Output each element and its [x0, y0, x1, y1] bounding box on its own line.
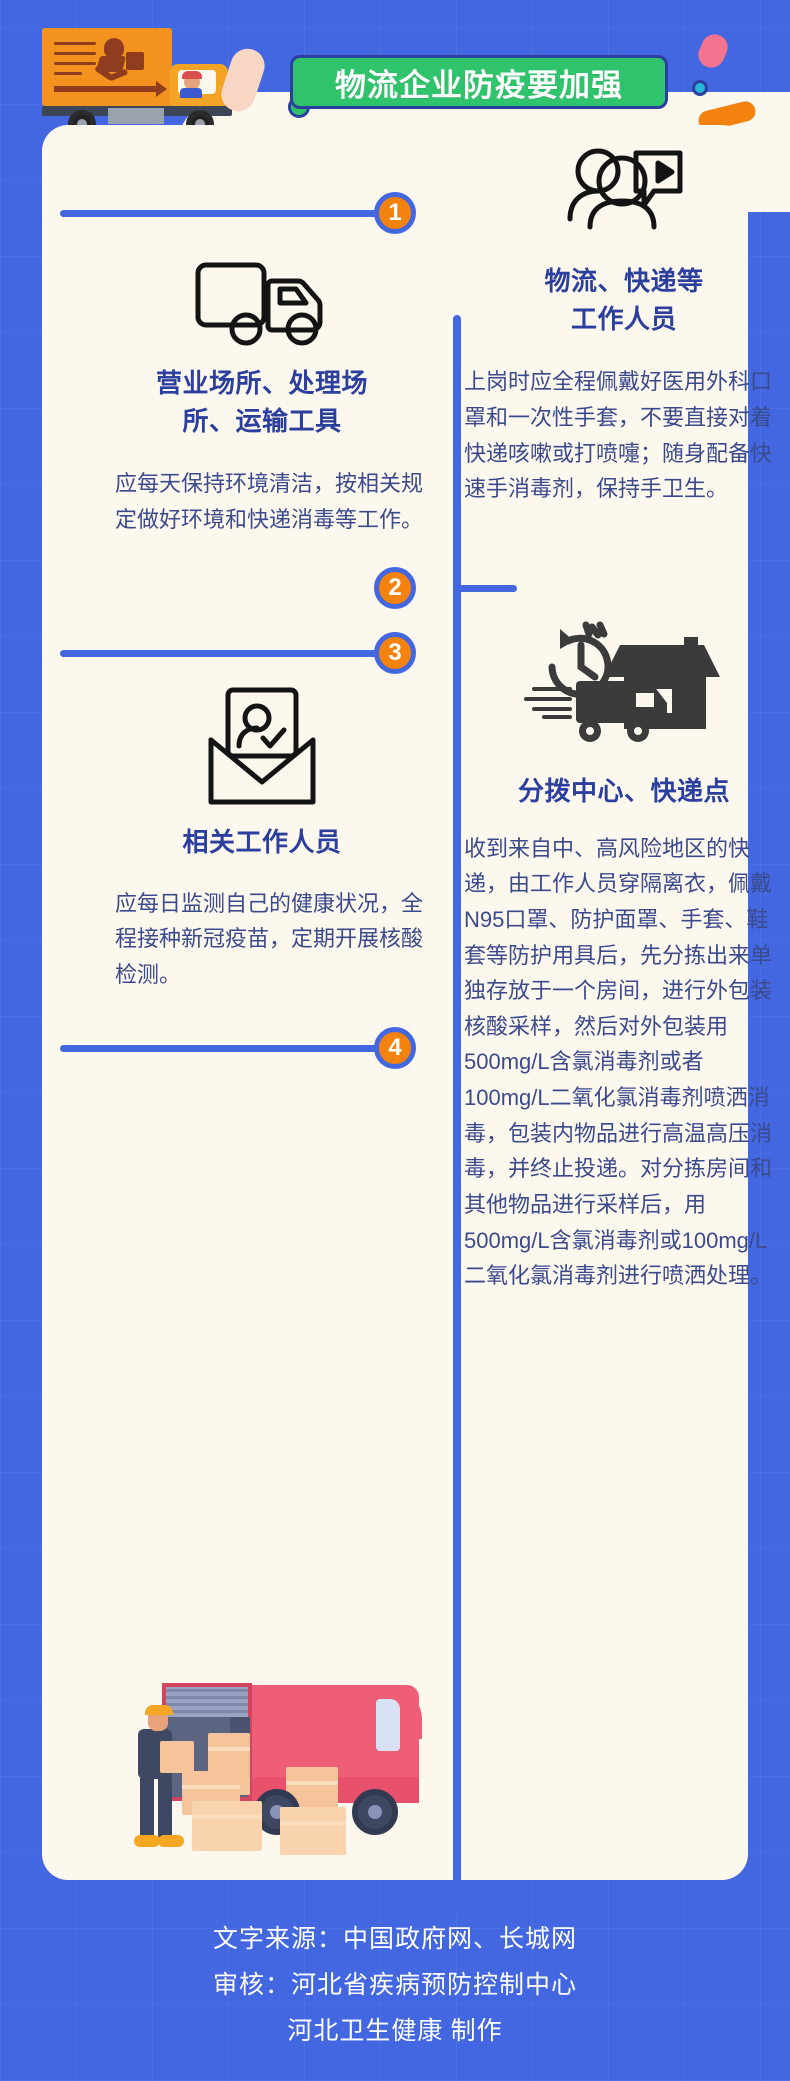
poster-footer: 文字来源：中国政府网、长城网 审核：河北省疾病预防控制中心 河北卫生健康 制作 — [0, 1885, 790, 2081]
footer-producer: 河北卫生健康 制作 — [287, 2011, 502, 2047]
cyan-dot-decor — [692, 80, 708, 96]
timeline-axis — [453, 315, 461, 1915]
section-4-title: 相关工作人员 — [97, 824, 427, 862]
timeline-marker-1[interactable]: 1 — [374, 192, 416, 234]
timeline-marker-4[interactable]: 4 — [374, 1027, 416, 1069]
section-2-body: 应每天保持环境清洁，按相关规定做好环境和快递消毒等工作。 — [97, 466, 427, 537]
section-1-title-line2: 工作人员 — [464, 301, 784, 339]
connector-4 — [60, 1045, 410, 1052]
timeline-marker-3[interactable]: 3 — [374, 632, 416, 674]
poster-title-badge: 物流企业防疫要加强 — [290, 55, 668, 109]
section-1: 物流、快递等 工作人员 上岗时应全程佩戴好医用外科口罩和一次性手套，不要直接对着… — [464, 145, 784, 507]
footer-review: 审核：河北省疾病预防控制中心 — [213, 1965, 577, 2001]
content-card: 1 2 3 4 物流、快递等 工作人员 上岗时应全程佩戴好医用外科口罩和一次性手… — [42, 125, 748, 1880]
infographic-poster: 物流企业防疫要加强 1 2 3 4 — [0, 0, 790, 2081]
connector-2 — [457, 585, 517, 592]
section-3-title: 分拨中心、快递点 — [464, 773, 784, 811]
people-speech-bubble-icon — [464, 145, 784, 253]
section-2-title-line2: 所、运输工具 — [97, 403, 427, 441]
worker-loading-boxes-illustration — [104, 1625, 434, 1895]
section-1-body: 上岗时应全程佩戴好医用外科口罩和一次性手套，不要直接对着快递咳嗽或打喷嚏；随身配… — [464, 364, 784, 507]
section-3-body: 收到来自中、高风险地区的快递，由工作人员穿隔离衣，佩戴N95口罩、防护面罩、手套… — [464, 831, 784, 1294]
footer-source: 文字来源：中国政府网、长城网 — [213, 1919, 577, 1955]
section-1-title-line1: 物流、快递等 — [464, 263, 784, 301]
header-truck-icon — [42, 28, 242, 136]
section-4-body: 应每日监测自己的健康状况，全程接种新冠疫苗，定期开展核酸检测。 — [97, 886, 427, 993]
connector-1 — [60, 210, 410, 217]
connector-3 — [60, 650, 410, 657]
timeline-marker-2[interactable]: 2 — [374, 567, 416, 609]
section-2: 营业场所、处理场 所、运输工具 应每天保持环境清洁，按相关规定做好环境和快递消毒… — [97, 255, 427, 538]
section-3: 分拨中心、快递点 收到来自中、高风险地区的快递，由工作人员穿隔离衣，佩戴N95口… — [464, 615, 784, 1294]
section-2-title-line1: 营业场所、处理场 — [97, 365, 427, 403]
box-truck-icon — [97, 255, 427, 355]
section-4: 相关工作人员 应每日监测自己的健康状况，全程接种新冠疫苗，定期开展核酸检测。 — [97, 680, 427, 993]
pink-blob-decor — [694, 30, 732, 72]
envelope-person-check-icon — [97, 680, 427, 814]
poster-title: 物流企业防疫要加强 — [335, 60, 623, 105]
clock-truck-house-icon — [464, 615, 784, 763]
